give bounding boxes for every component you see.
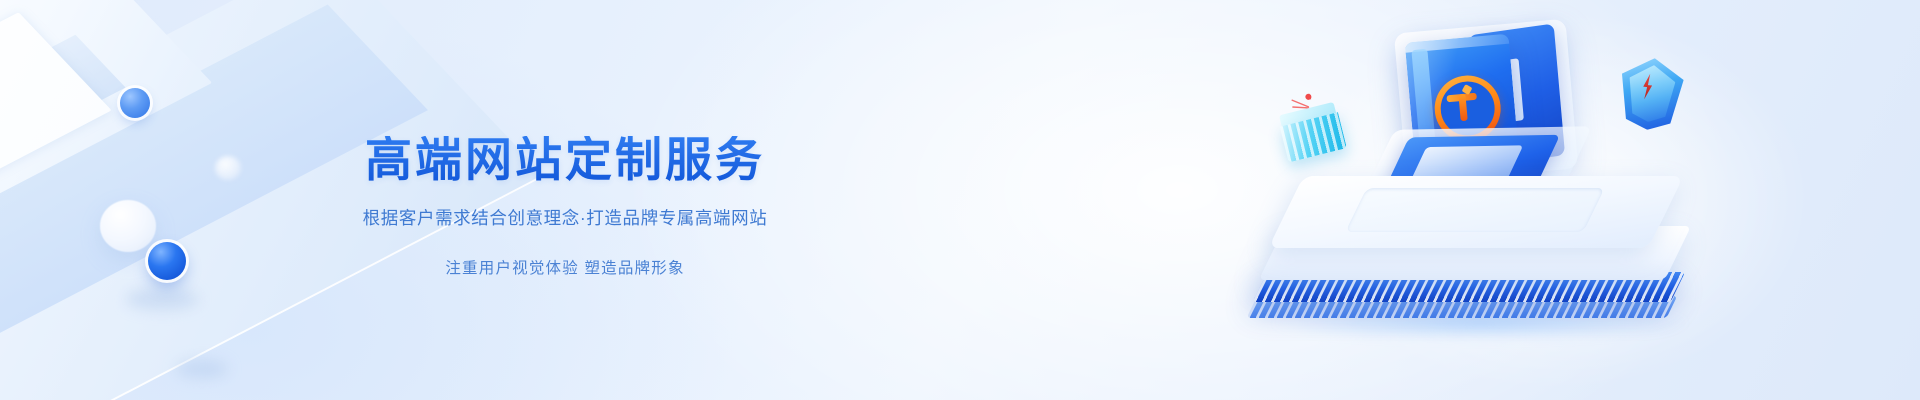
security-shield-icon xyxy=(1616,55,1685,133)
device-lid-inset xyxy=(1345,188,1604,232)
banner-text-block: 高端网站定制服务 根据客户需求结合创意理念·打造品牌专属高端网站 注重用户视觉体… xyxy=(0,0,1130,400)
banner-headline: 高端网站定制服务 xyxy=(365,136,765,183)
server-device-stack xyxy=(1260,176,1690,336)
hero-banner: 高端网站定制服务 根据客户需求结合创意理念·打造品牌专属高端网站 注重用户视觉体… xyxy=(0,0,1920,400)
banner-subheadline-primary: 根据客户需求结合创意理念·打造品牌专属高端网站 xyxy=(363,205,768,230)
banner-subheadline-secondary: 注重用户视觉体验 塑造品牌形象 xyxy=(445,256,684,278)
hero-illustration xyxy=(1120,0,1920,400)
